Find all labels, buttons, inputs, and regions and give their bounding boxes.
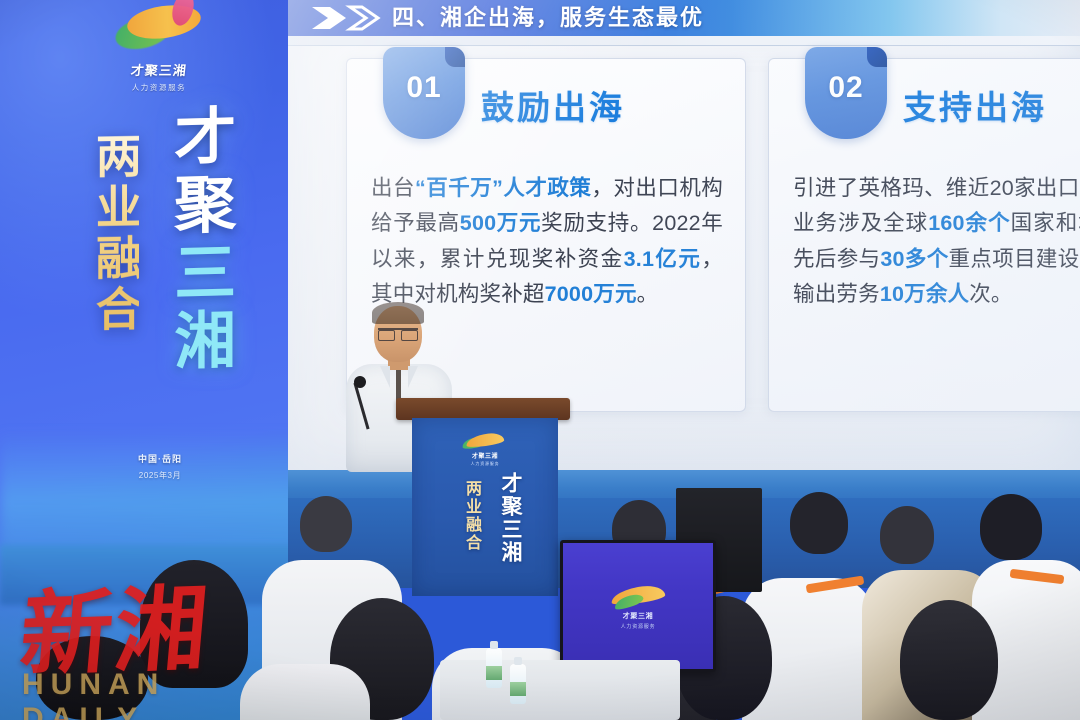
logo-subtitle: 人力资源服务 bbox=[104, 82, 214, 93]
speaker-collar-right bbox=[408, 366, 418, 388]
banner-calligraphy-main: 才聚三湘 bbox=[168, 103, 231, 377]
podium-calligraphy-gold: 两业融合 bbox=[460, 480, 484, 552]
podium-logo-subtitle: 人力资源服务 bbox=[458, 461, 512, 467]
audience-head bbox=[790, 492, 848, 554]
watermark: 新湘南 HUNAN DAILY bbox=[8, 556, 288, 706]
podium-logo-orange bbox=[465, 432, 504, 449]
calligraphy-accent: 三湘 bbox=[163, 239, 236, 377]
bottle-label bbox=[510, 682, 526, 696]
slide-title: 四、湘企出海，服务生态最优 bbox=[392, 2, 704, 34]
card-number-badge: 02 bbox=[805, 47, 887, 139]
audience-head bbox=[980, 494, 1042, 560]
highlighted-text: 500万元 bbox=[460, 211, 541, 235]
event-logo: 才聚三湘 人力资源服务 bbox=[104, 2, 214, 93]
card-title: 鼓励出海 bbox=[481, 81, 625, 129]
highlighted-text: 3.1亿元 bbox=[624, 247, 702, 271]
highlighted-text: 7000万元 bbox=[545, 282, 637, 306]
swoosh-bird-logo-icon bbox=[113, 2, 205, 54]
podium-calligraphy-main: 才聚三湘 bbox=[496, 472, 526, 564]
card-title: 支持出海 bbox=[903, 81, 1047, 129]
highlighted-text: 30多个 bbox=[880, 247, 948, 271]
banner-footer: 中国·岳阳 2025年3月 bbox=[104, 452, 216, 481]
body-text: 次。 bbox=[969, 282, 1012, 306]
audience-head bbox=[880, 506, 934, 564]
monitor-logo-name: 才聚三湘 bbox=[607, 611, 669, 621]
conference-photo: 才聚三湘 人力资源服务 两业融合 才聚三湘 中国·岳阳 2025年3月 四、湘企… bbox=[0, 0, 1080, 720]
water-bottle bbox=[510, 664, 526, 704]
water-bottle bbox=[486, 648, 502, 688]
audience-table bbox=[440, 660, 680, 720]
calligraphy-lead: 才聚 bbox=[163, 103, 236, 241]
banner-date: 2025年3月 bbox=[104, 470, 216, 481]
highlighted-text: 160余个 bbox=[928, 211, 1010, 235]
card-number-badge: 01 bbox=[383, 47, 465, 139]
body-text: 。 bbox=[637, 282, 659, 306]
microphone-icon bbox=[354, 376, 366, 388]
speaker-collar-left bbox=[380, 366, 390, 388]
card-body: 出台“百千万”人才政策，对出口机构给予最高500万元奖励支持。2022年以来，累… bbox=[371, 171, 723, 312]
card-body: 引进了英格玛、维近20家出口机构，业务涉及全球160余个国家和地区，先后参与30… bbox=[793, 171, 1080, 312]
podium-logo: 才聚三湘 人力资源服务 bbox=[458, 432, 512, 467]
logo-name: 才聚三湘 bbox=[103, 60, 215, 79]
double-chevron-right-icon bbox=[310, 5, 386, 31]
bottle-label bbox=[486, 666, 502, 680]
monitor-logo: 才聚三湘 人力资源服务 bbox=[607, 587, 669, 630]
body-text: 引进了英格玛、维 bbox=[793, 176, 968, 200]
watermark-english: HUNAN DAILY bbox=[22, 668, 288, 720]
content-card-02: 02 支持出海 引进了英格玛、维近20家出口机构，业务涉及全球160余个国家和地… bbox=[768, 58, 1080, 412]
highlighted-text: “百千万”人才政策 bbox=[415, 176, 591, 200]
audience-monitor: 才聚三湘 人力资源服务 bbox=[560, 540, 716, 672]
monitor-logo-subtitle: 人力资源服务 bbox=[607, 623, 669, 630]
monitor-logo-green bbox=[613, 592, 645, 612]
swoosh-bird-logo-icon bbox=[610, 584, 666, 606]
card-number: 01 bbox=[383, 71, 465, 105]
badge-fold-corner bbox=[867, 47, 887, 67]
body-text: 出台 bbox=[371, 176, 415, 200]
slide-header-underline bbox=[288, 36, 1080, 46]
podium: 才聚三湘 人力资源服务 才聚三湘 两业融合 bbox=[398, 398, 568, 598]
highlighted-text: 10万余人 bbox=[880, 282, 969, 306]
speaker-hair bbox=[372, 302, 424, 324]
card-number: 02 bbox=[805, 71, 887, 105]
audience-head bbox=[300, 496, 352, 552]
audience-head bbox=[900, 600, 998, 720]
backdrop-glow bbox=[0, 430, 300, 560]
swoosh-bird-logo-icon bbox=[462, 432, 508, 448]
badge-fold-corner bbox=[445, 47, 465, 67]
banner-calligraphy-gold: 两业融合 bbox=[92, 132, 139, 337]
podium-front-panel: 才聚三湘 人力资源服务 才聚三湘 两业融合 bbox=[412, 418, 558, 596]
podium-wooden-top bbox=[396, 398, 570, 420]
speaker-glasses bbox=[378, 328, 418, 340]
banner-location: 中国·岳阳 bbox=[104, 452, 216, 465]
podium-logo-name: 才聚三湘 bbox=[458, 451, 512, 460]
